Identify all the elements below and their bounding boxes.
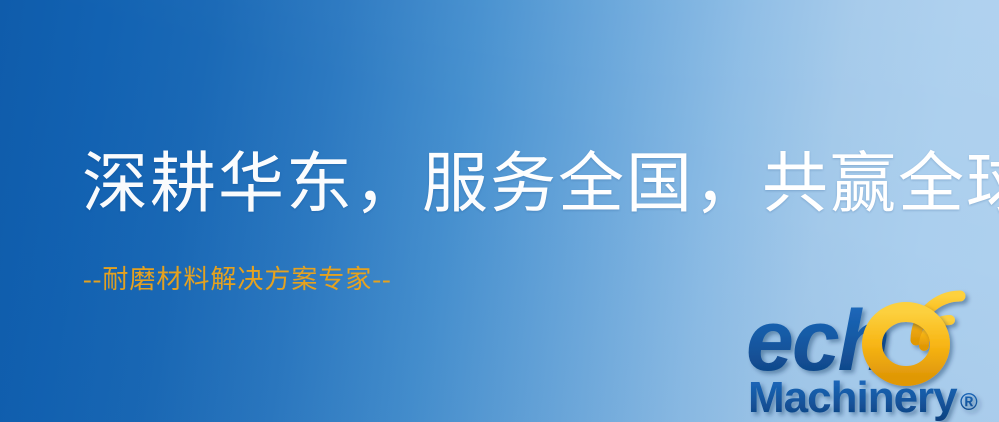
banner-headline: 深耕华东，服务全国，共赢全球 — [82, 149, 999, 220]
banner-subtitle: --耐磨材料解决方案专家-- — [83, 264, 392, 295]
promo-banner: 深耕华东，服务全国，共赢全球 --耐磨材料解决方案专家-- — [0, 0, 999, 422]
echo-machinery-logo: ech Machinery ® — [744, 288, 999, 422]
logo-tagline-group: Machinery ® — [748, 373, 978, 422]
logo-registered-mark: ® — [960, 389, 978, 416]
logo-svg: ech Machinery ® — [744, 288, 999, 422]
logo-text-machinery: Machinery — [748, 373, 958, 422]
